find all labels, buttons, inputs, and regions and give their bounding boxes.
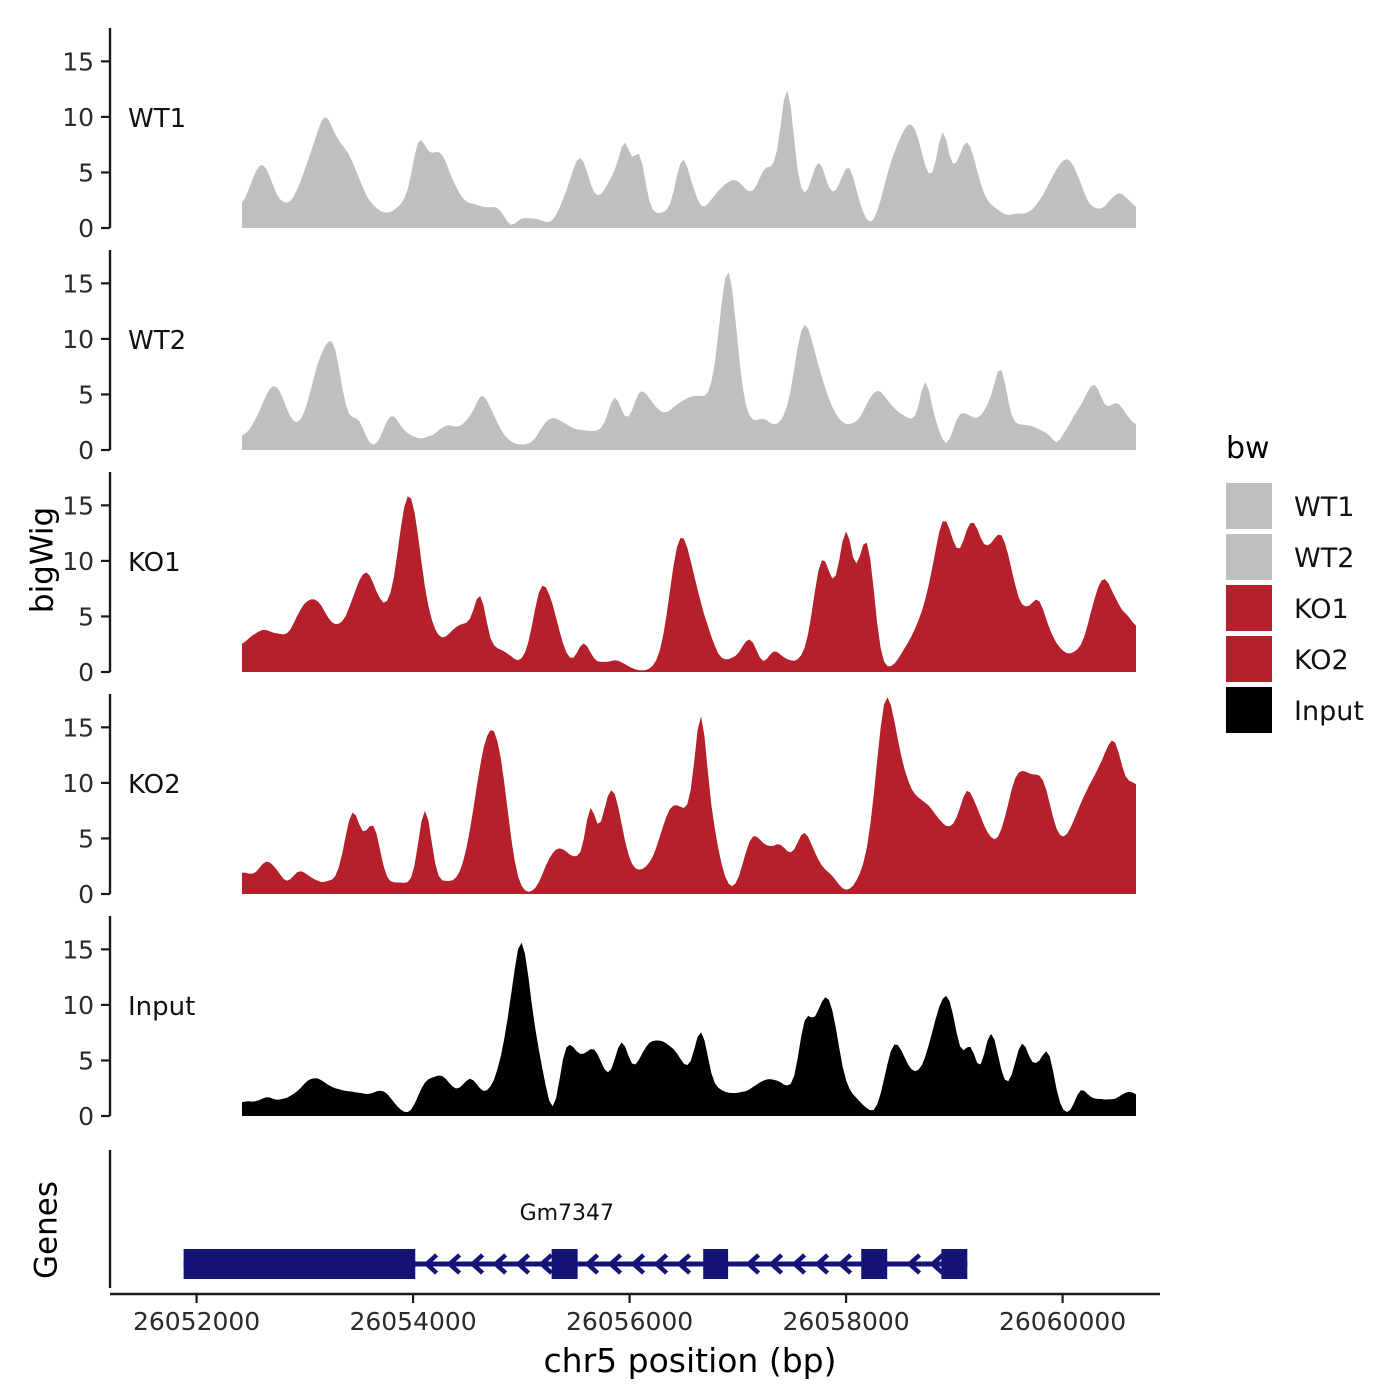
gene-exon-block — [552, 1249, 578, 1279]
legend-label-wt1: WT1 — [1294, 492, 1354, 523]
y-tick-label-input-5: 5 — [78, 1046, 94, 1075]
x-tick-label-26052000: 26052000 — [133, 1307, 260, 1336]
y-tick-label-wt2-15: 15 — [62, 269, 94, 298]
genes-strip-title: Genes — [29, 1181, 65, 1279]
legend-swatch-wt1 — [1226, 483, 1272, 529]
legend-label-wt2: WT2 — [1294, 543, 1354, 574]
gene-name-label: Gm7347 — [520, 1201, 614, 1226]
x-tick-label-26058000: 26058000 — [782, 1307, 909, 1336]
gene-exon-block — [703, 1249, 728, 1279]
panel-label-wt2: WT2 — [128, 326, 186, 356]
y-tick-label-input-15: 15 — [62, 935, 94, 964]
y-tick-label-wt2-0: 0 — [78, 436, 94, 465]
y-tick-label-ko2-10: 10 — [62, 769, 94, 798]
y-tick-label-ko2-15: 15 — [62, 713, 94, 742]
panel-label-ko2: KO2 — [128, 770, 181, 800]
y-tick-label-ko2-0: 0 — [78, 880, 94, 909]
panel-label-wt1: WT1 — [128, 104, 186, 134]
y-tick-label-wt2-10: 10 — [62, 325, 94, 354]
y-tick-label-wt2-5: 5 — [78, 380, 94, 409]
legend-label-ko2: KO2 — [1294, 645, 1349, 676]
y-tick-label-ko1-5: 5 — [78, 602, 94, 631]
y-tick-label-wt1-15: 15 — [62, 47, 94, 76]
x-tick-label-26060000: 26060000 — [999, 1307, 1126, 1336]
y-tick-label-wt1-5: 5 — [78, 158, 94, 187]
legend-swatch-wt2 — [1226, 534, 1272, 580]
legend-label-input: Input — [1294, 696, 1364, 727]
genome-browser-figure: bigWig Genes 051015WT1051015WT2051015KO1… — [0, 0, 1400, 1400]
x-tick-label-26054000: 26054000 — [349, 1307, 476, 1336]
x-tick-label-26056000: 26056000 — [566, 1307, 693, 1336]
y-tick-label-ko2-5: 5 — [78, 824, 94, 853]
legend-swatch-ko2 — [1226, 636, 1272, 682]
legend-label-ko1: KO1 — [1294, 594, 1349, 625]
y-tick-label-input-0: 0 — [78, 1102, 94, 1131]
y-tick-label-ko1-10: 10 — [62, 547, 94, 576]
panel-label-ko1: KO1 — [128, 548, 181, 578]
legend-title: bw — [1226, 431, 1270, 466]
y-tick-label-input-10: 10 — [62, 991, 94, 1020]
legend-swatch-input — [1226, 687, 1272, 733]
y-tick-label-ko1-0: 0 — [78, 658, 94, 687]
y-tick-label-wt1-10: 10 — [62, 103, 94, 132]
x-axis-title: chr5 position (bp) — [544, 1341, 837, 1380]
gene-exon-block — [941, 1249, 967, 1279]
y-tick-label-ko1-15: 15 — [62, 491, 94, 520]
legend-swatch-ko1 — [1226, 585, 1272, 631]
panel-label-input: Input — [128, 992, 195, 1022]
y-tick-label-wt1-0: 0 — [78, 214, 94, 243]
y-axis-title: bigWig — [25, 507, 61, 613]
gene-exon-block — [861, 1249, 887, 1279]
gene-exon-block — [184, 1249, 416, 1279]
